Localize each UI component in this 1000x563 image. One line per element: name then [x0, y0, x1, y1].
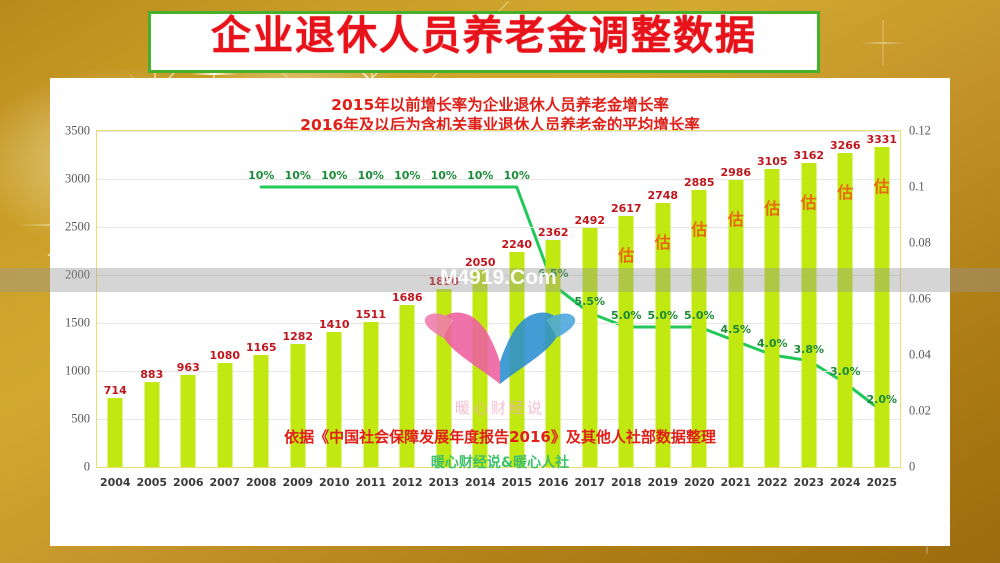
page-title: 企业退休人员养老金调整数据	[211, 16, 757, 56]
estimate-marker: 估	[801, 189, 817, 213]
source-note: 依据《中国社会保障发展年度报告2016》及其他人社部数据整理	[50, 426, 950, 447]
bar-value-label: 1511	[355, 308, 386, 321]
growth-rate-label: 10%	[504, 169, 530, 182]
bar-value-label: 1410	[319, 318, 350, 331]
bar-value-label: 2617	[611, 202, 642, 215]
x-axis-tick-label: 2018	[611, 476, 642, 489]
y-axis-tick-label: 3500	[65, 124, 90, 139]
x-axis-tick-label: 2007	[209, 476, 240, 489]
x-axis-tick-label: 2015	[501, 476, 532, 489]
growth-rate-label: 10%	[431, 169, 457, 182]
y2-axis-tick-label: 0.12	[909, 124, 931, 139]
y-axis-tick-label: 500	[71, 412, 90, 427]
y2-axis-tick-label: 0.1	[909, 180, 925, 195]
bar-value-label: 3162	[793, 149, 824, 162]
y2-axis-tick-label: 0.04	[909, 348, 931, 363]
bar-value-label: 2492	[574, 214, 605, 227]
x-axis-tick-label: 2011	[355, 476, 386, 489]
x-axis-tick-label: 2004	[100, 476, 131, 489]
x-axis-tick-label: 2020	[684, 476, 715, 489]
bar[interactable]	[254, 355, 269, 467]
estimate-marker: 估	[618, 242, 634, 266]
bar[interactable]	[290, 344, 305, 467]
growth-rate-label: 3.0%	[830, 365, 861, 378]
bar-value-label: 1686	[392, 291, 423, 304]
growth-rate-label: 5.0%	[647, 309, 678, 322]
growth-rate-label: 10%	[248, 169, 274, 182]
x-axis-tick-label: 2025	[866, 476, 897, 489]
x-axis-tick-label: 2022	[757, 476, 788, 489]
chart-subtitle-line-1: 2015年以前增长率为企业退休人员养老金增长率	[50, 96, 950, 116]
estimate-marker: 估	[837, 179, 853, 203]
estimate-marker: 估	[691, 216, 707, 240]
estimate-marker: 估	[728, 206, 744, 230]
bar-value-label: 2362	[538, 226, 569, 239]
bar-value-label: 3331	[866, 133, 897, 146]
y2-axis-tick-label: 0.02	[909, 404, 931, 419]
bar-value-label: 2050	[465, 256, 496, 269]
bar-value-label: 2748	[647, 189, 678, 202]
chart-card: 2015年以前增长率为企业退休人员养老金增长率 2016年及以后为含机关事业退休…	[50, 78, 950, 546]
x-axis-tick-label: 2005	[136, 476, 167, 489]
bar-value-label: 2986	[720, 166, 751, 179]
y2-axis-tick-label: 0.06	[909, 292, 931, 307]
x-axis-tick-label: 2010	[319, 476, 350, 489]
x-axis-tick-label: 2006	[173, 476, 204, 489]
growth-rate-label: 10%	[285, 169, 311, 182]
bar-value-label: 963	[177, 361, 200, 374]
x-axis-tick-label: 2012	[392, 476, 423, 489]
bar-value-label: 3105	[757, 155, 788, 168]
author-note: 暖心财经说&暖心人社	[50, 452, 950, 472]
gridline	[97, 131, 900, 132]
growth-rate-label: 5.0%	[611, 309, 642, 322]
x-axis-tick-label: 2008	[246, 476, 277, 489]
growth-rate-polyline	[261, 187, 882, 411]
growth-rate-label: 5.5%	[574, 295, 605, 308]
bar-value-label: 714	[104, 384, 127, 397]
sparkle-star	[860, 20, 906, 66]
growth-rate-label: 10%	[358, 169, 384, 182]
bar-value-label: 1282	[282, 330, 313, 343]
bar-value-label: 2240	[501, 238, 532, 251]
estimate-marker: 估	[874, 173, 890, 197]
x-axis-tick-label: 2009	[282, 476, 313, 489]
bar-value-label: 1165	[246, 341, 277, 354]
growth-rate-label: 6.5%	[538, 267, 569, 280]
growth-rate-label: 3.8%	[793, 343, 824, 356]
y-axis-tick-label: 2000	[65, 268, 90, 283]
y-axis-tick-label: 3000	[65, 172, 90, 187]
growth-rate-label: 10%	[467, 169, 493, 182]
x-axis-tick-label: 2021	[720, 476, 751, 489]
title-plate: 企业退休人员养老金调整数据 企业退休人员养老金调整数据	[148, 11, 820, 73]
plot-area: 050010001500200025003000350000.020.040.0…	[96, 130, 901, 468]
bar-value-label: 1080	[209, 349, 240, 362]
x-axis-tick-label: 2017	[574, 476, 605, 489]
estimate-marker: 估	[764, 195, 780, 219]
growth-rate-label: 10%	[394, 169, 420, 182]
bar-value-label: 2885	[684, 176, 715, 189]
x-axis-tick-label: 2024	[830, 476, 861, 489]
bar-value-label: 883	[140, 368, 163, 381]
bar-value-label: 1850	[428, 275, 459, 288]
x-axis-tick-label: 2019	[647, 476, 678, 489]
growth-rate-label: 2.0%	[866, 393, 897, 406]
estimate-marker: 估	[655, 229, 671, 253]
x-axis-tick-label: 2014	[465, 476, 496, 489]
y2-axis-tick-label: 0.08	[909, 236, 931, 251]
y-axis-tick-label: 2500	[65, 220, 90, 235]
growth-rate-label: 4.0%	[757, 337, 788, 350]
x-axis-tick-label: 2013	[428, 476, 459, 489]
x-axis-tick-label: 2023	[793, 476, 824, 489]
growth-rate-label: 4.5%	[720, 323, 751, 336]
y-axis-tick-label: 1500	[65, 316, 90, 331]
growth-rate-label: 10%	[321, 169, 347, 182]
bar-value-label: 3266	[830, 139, 861, 152]
x-axis-tick-label: 2016	[538, 476, 569, 489]
y-axis-tick-label: 1000	[65, 364, 90, 379]
growth-rate-label: 5.0%	[684, 309, 715, 322]
